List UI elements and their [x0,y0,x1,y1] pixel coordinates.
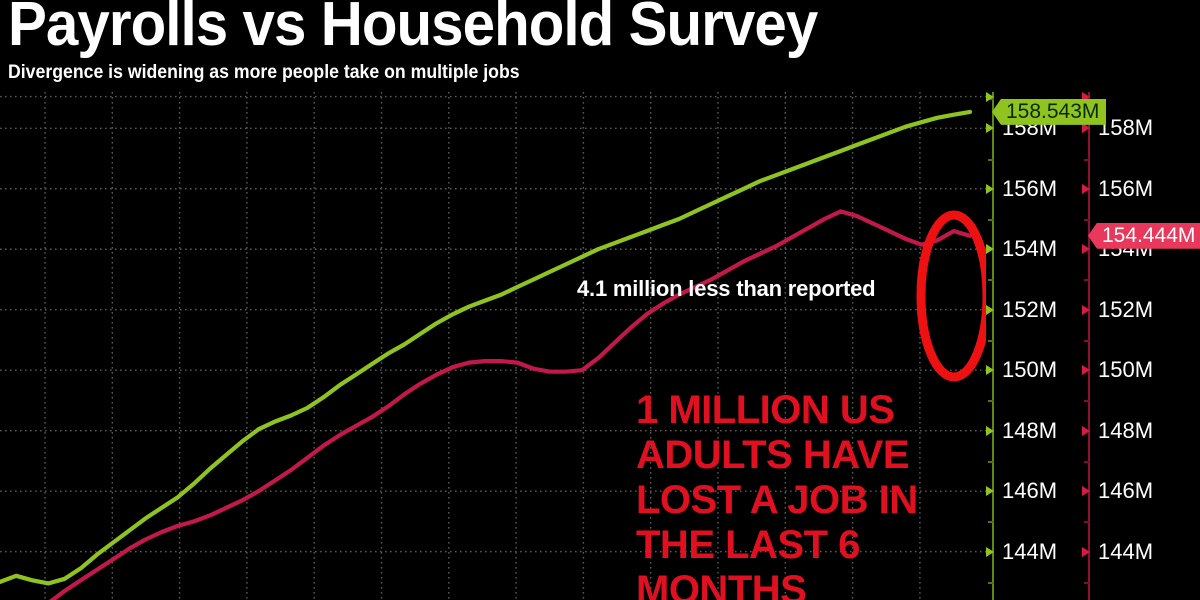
green-axis-tick-minor [988,219,994,221]
chart-screenshot: Payrolls vs Household Survey Divergence … [0,0,1200,600]
red-axis-tick-label: 146M [1098,478,1153,504]
red-axis-tick-label: 144M [1098,539,1153,565]
plot-area: 4.1 million less than reported 1 MILLION… [0,92,986,600]
green-axis-tick-major [986,244,994,254]
red-axis-tick-minor [1084,219,1090,221]
green-axis-tick-minor [988,400,994,402]
red-axis-tick-major [1082,426,1090,436]
red-axis-tick-label: 152M [1098,297,1153,323]
red-axis-tick-minor [1084,279,1090,281]
chart-header: Payrolls vs Household Survey Divergence … [0,0,1200,92]
green-axis-tick-label: 144M [1002,539,1057,565]
green-axis-tick-minor [988,159,994,161]
red-axis-tick-label: 148M [1098,418,1153,444]
red-axis-tick-major [1082,305,1090,315]
green-axis: 158M156M154M152M150M148M146M144M [986,92,1086,600]
red-axis-spine [1088,92,1090,600]
green-axis-tick-major [986,305,994,315]
page-title: Payrolls vs Household Survey [8,0,817,56]
green-axis-tick-major [986,547,994,557]
red-axis-tick-minor [1084,582,1090,584]
annotation-headline-block: 1 MILLION US ADULTS HAVE LOST A JOB IN T… [636,388,966,600]
red-axis-tick-major [1082,184,1090,194]
red-axis-tick-minor [1084,159,1090,161]
green-axis-tick-label: 148M [1002,418,1057,444]
red-axis-tick-label: 156M [1098,176,1153,202]
green-last-value-badge[interactable]: 158.543M [992,99,1106,125]
red-axis: 158M156M154M152M150M148M146M144M [1082,92,1182,600]
red-axis-tick-label: 150M [1098,357,1153,383]
annotation-divergence-note: 4.1 million less than reported [577,276,875,302]
red-axis-tick-minor [1084,400,1090,402]
green-axis-tick-label: 154M [1002,236,1057,262]
page-subtitle: Divergence is widening as more people ta… [8,62,520,84]
green-axis-tick-minor [988,461,994,463]
green-axis-top-cap-icon [986,92,994,102]
green-axis-tick-major [986,486,994,496]
green-axis-tick-label: 156M [1002,176,1057,202]
green-axis-tick-label: 152M [1002,297,1057,323]
red-axis-tick-minor [1084,340,1090,342]
green-axis-tick-minor [988,521,994,523]
red-axis-tick-major [1082,547,1090,557]
green-axis-tick-label: 146M [1002,478,1057,504]
red-axis-tick-major [1082,244,1090,254]
green-axis-tick-label: 150M [1002,357,1057,383]
red-last-value-badge[interactable]: 154.444M [1088,223,1200,249]
red-axis-tick-minor [1084,461,1090,463]
green-axis-tick-minor [988,279,994,281]
green-axis-tick-minor [988,582,994,584]
green-axis-tick-minor [988,340,994,342]
green-axis-tick-major [986,123,994,133]
green-axis-tick-major [986,426,994,436]
red-axis-tick-minor [1084,521,1090,523]
red-axis-tick-major [1082,365,1090,375]
red-axis-tick-major [1082,486,1090,496]
green-axis-tick-major [986,184,994,194]
green-axis-spine [992,92,994,600]
green-axis-tick-major [986,365,994,375]
